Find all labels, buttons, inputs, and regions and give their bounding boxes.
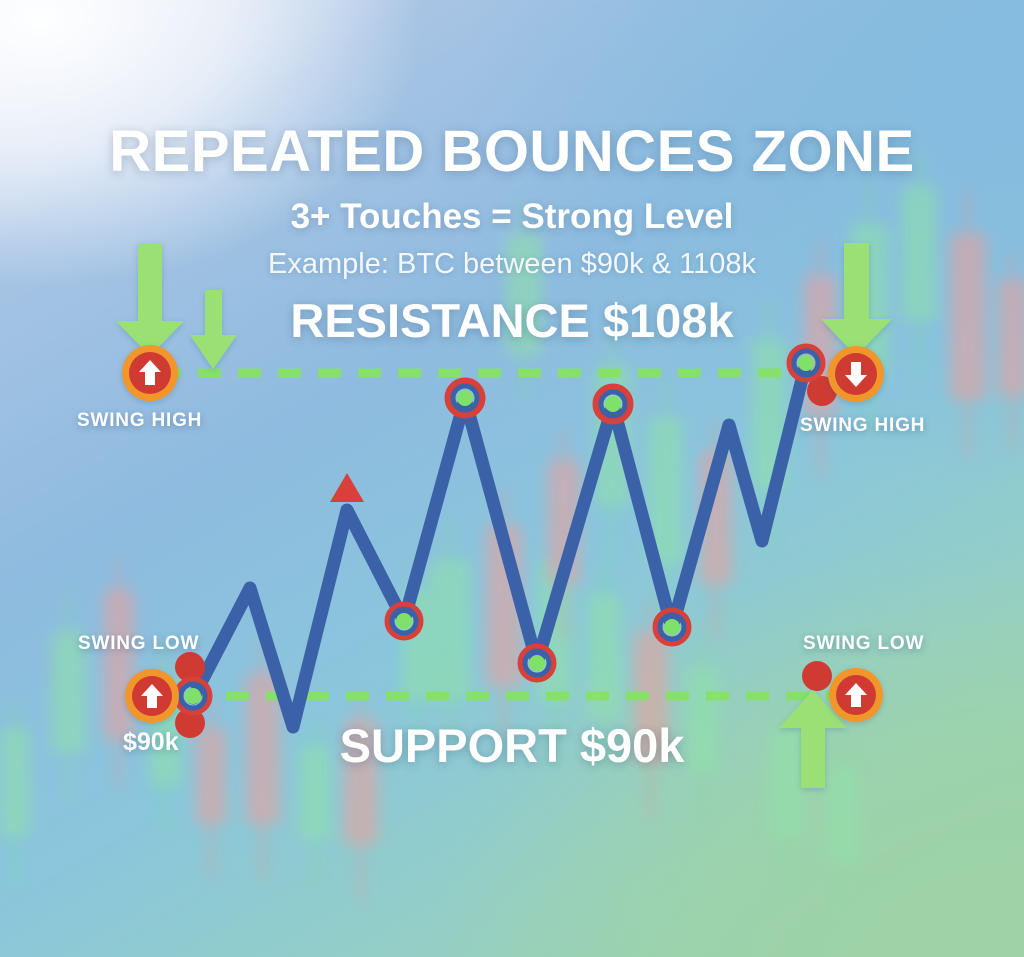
touch-marker <box>521 647 553 679</box>
resistance-level-label: RESISTANCE $108k <box>0 293 1024 348</box>
badge-swing-low-left[interactable] <box>125 669 179 723</box>
swing-low-left-label: SWING LOW <box>78 633 199 655</box>
breakout-triangle-icon <box>330 473 364 502</box>
badge-swing-high-left[interactable] <box>122 345 178 401</box>
touch-marker <box>596 387 630 421</box>
badge-swing-high-right[interactable] <box>828 346 884 402</box>
touch-marker <box>388 605 420 637</box>
touch-marker <box>790 347 822 379</box>
swing-high-left-label: SWING HIGH <box>77 410 202 432</box>
example-text: Example: BTC between $90k & 1108k <box>0 248 1024 281</box>
swing-dot <box>802 661 832 691</box>
touch-marker <box>177 680 209 712</box>
touch-marker <box>448 381 482 415</box>
price-zigzag-line <box>193 363 806 727</box>
page-title: REPEATED BOUNCES ZONE <box>0 118 1024 185</box>
support-price-tag: $90k <box>123 728 179 757</box>
subtitle: 3+ Touches = Strong Level <box>0 197 1024 237</box>
swing-low-right-label: SWING LOW <box>803 633 924 655</box>
badge-swing-low-right[interactable] <box>829 668 883 722</box>
swing-high-right-label: SWING HIGH <box>800 415 925 437</box>
infographic-canvas: REPEATED BOUNCES ZONE 3+ Touches = Stron… <box>0 0 1024 957</box>
touch-marker <box>656 611 688 643</box>
